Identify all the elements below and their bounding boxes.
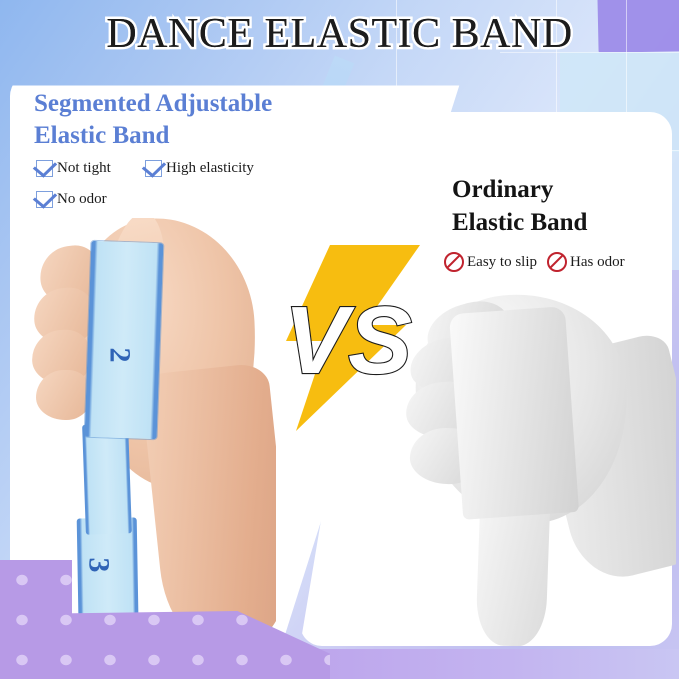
band-number-3: 3 (82, 558, 116, 573)
vs-label: VS (284, 287, 412, 394)
band-number-2: 2 (103, 348, 137, 363)
drawback-label: Easy to slip (467, 254, 537, 271)
feature-item-not-tight: Not tight (36, 160, 111, 177)
elastic-band-segment-mid (82, 423, 132, 535)
wrist-illustration (140, 362, 276, 646)
checkbox-checked-icon (36, 160, 53, 177)
drawback-item-has-odor: Has odor (547, 252, 625, 272)
right-panel-heading: Ordinary Elastic Band (452, 174, 679, 239)
drawback-label: Has odor (570, 254, 625, 271)
prohibition-icon (547, 252, 567, 272)
vs-badge: VS (268, 243, 428, 433)
left-heading-line-1: Segmented Adjustable (34, 90, 272, 117)
feature-label: No odor (57, 191, 107, 208)
feature-label: High elasticity (166, 160, 254, 177)
checkbox-checked-icon (145, 160, 162, 177)
product-photo-right (404, 286, 676, 646)
checkbox-checked-icon (36, 191, 53, 208)
feature-item-high-elasticity: High elasticity (145, 160, 254, 177)
finger-4 (36, 370, 92, 420)
feature-item-no-odor: No odor (36, 191, 107, 208)
left-heading-line-2: Elastic Band (34, 122, 169, 149)
drawback-list: Easy to slip Has odor (444, 252, 625, 272)
right-heading-line-1: Ordinary (452, 176, 553, 203)
feature-label: Not tight (57, 160, 111, 177)
prohibition-icon (444, 252, 464, 272)
left-panel-heading: Segmented Adjustable Elastic Band (34, 88, 394, 152)
right-heading-line-2: Elastic Band (452, 209, 587, 236)
drawback-item-easy-to-slip: Easy to slip (444, 252, 537, 272)
page-title: DANCE ELASTIC BAND (0, 10, 679, 58)
gray-elastic-band (449, 306, 579, 520)
vs-letters: VS (268, 243, 428, 433)
infographic-canvas: DANCE ELASTIC BAND DANCE ELASTIC BAND 2 … (0, 0, 679, 679)
elastic-band-segment-2 (85, 241, 164, 439)
